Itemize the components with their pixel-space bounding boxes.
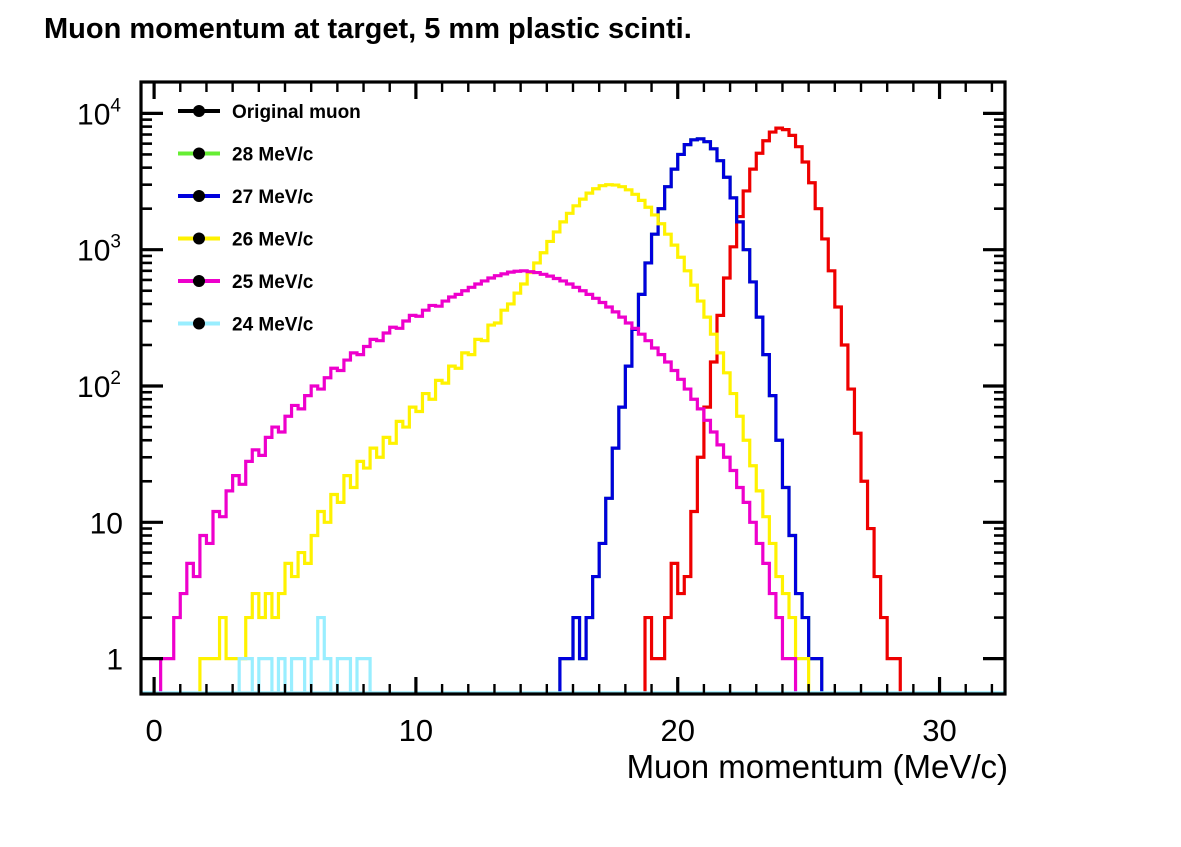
svg-text:102: 102: [77, 368, 121, 404]
y-tick-label: 10: [90, 507, 123, 540]
legend-item[interactable]: 28 MeV/c: [178, 145, 314, 166]
x-tick-label: 10: [399, 713, 433, 748]
x-axis-title: Muon momentum (MeV/c): [627, 748, 1008, 786]
series-28-mev-c: [560, 139, 822, 693]
series-27-mev-c: [560, 139, 822, 693]
series-24-mev-c: [239, 618, 370, 693]
legend-item[interactable]: 27 MeV/c: [178, 187, 314, 208]
legend-label: 26 MeV/c: [232, 230, 314, 251]
legend-marker-circle-icon: [193, 275, 205, 287]
legend-marker-circle-icon: [193, 148, 205, 160]
y-tick-label: 103: [77, 232, 121, 268]
series-original-muon: [645, 128, 900, 693]
svg-text:10: 10: [90, 507, 123, 540]
series-layer: [141, 128, 1005, 693]
x-tick-label: 0: [145, 713, 162, 748]
legend-label: 28 MeV/c: [232, 145, 314, 166]
legend-marker-circle-icon: [193, 233, 205, 245]
legend-label: 24 MeV/c: [232, 315, 314, 336]
plot-canvas: 0102030110102103104 Original muon28 MeV/…: [0, 0, 1181, 847]
legend-label: Original muon: [232, 102, 361, 123]
svg-text:104: 104: [77, 95, 121, 131]
svg-text:1: 1: [106, 644, 123, 677]
legend-marker-circle-icon: [193, 105, 205, 117]
legend-marker-circle-icon: [193, 190, 205, 202]
legend-label: 27 MeV/c: [232, 187, 314, 208]
y-tick-label: 1: [106, 644, 123, 677]
plot-root: Muon momentum at target, 5 mm plastic sc…: [0, 0, 1181, 847]
legend-label: 25 MeV/c: [232, 272, 314, 293]
legend: Original muon28 MeV/c27 MeV/c26 MeV/c25 …: [178, 102, 361, 336]
x-tick-label: 30: [922, 713, 956, 748]
legend-item[interactable]: 26 MeV/c: [178, 230, 314, 251]
legend-marker-circle-icon: [193, 318, 205, 330]
x-tick-label: 20: [660, 713, 694, 748]
y-tick-label: 102: [77, 368, 121, 404]
y-tick-label: 104: [77, 95, 121, 131]
tick-label-layer: 0102030110102103104: [77, 95, 957, 748]
legend-item[interactable]: 24 MeV/c: [178, 315, 314, 336]
legend-item[interactable]: 25 MeV/c: [178, 272, 314, 293]
svg-text:103: 103: [77, 232, 121, 268]
legend-item[interactable]: Original muon: [178, 102, 361, 123]
